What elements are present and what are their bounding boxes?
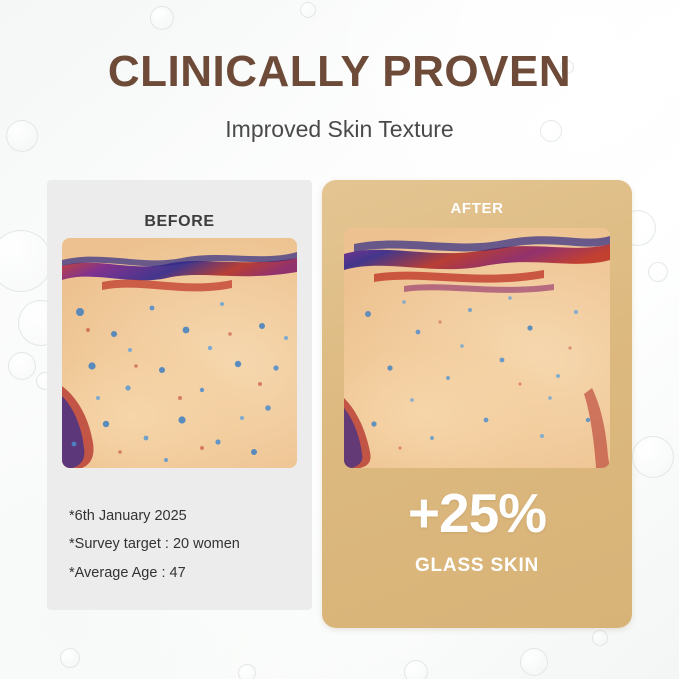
comparison-panels: BEFORE xyxy=(47,180,632,628)
study-detail-age: *Average Age : 47 xyxy=(69,559,299,587)
after-label: AFTER xyxy=(322,200,632,217)
study-detail-date: *6th January 2025 xyxy=(69,502,299,530)
skin-microscope-before-image xyxy=(62,238,297,468)
result-percentage: +25% xyxy=(322,485,632,543)
before-panel: BEFORE xyxy=(47,180,312,610)
after-skin-texture-graphic xyxy=(344,228,610,468)
result-caption: GLASS SKIN xyxy=(322,555,632,577)
result-block: +25% GLASS SKIN xyxy=(322,485,632,577)
before-label: BEFORE xyxy=(47,213,312,231)
promo-poster: CLINICALLY PROVEN Improved Skin Texture … xyxy=(0,0,679,679)
decorative-bubble-icon xyxy=(8,352,36,380)
study-details: *6th January 2025 *Survey target : 20 wo… xyxy=(69,502,299,587)
decorative-bubble-icon xyxy=(520,648,548,676)
page-title: CLINICALLY PROVEN xyxy=(0,50,679,94)
study-detail-target: *Survey target : 20 women xyxy=(69,530,299,558)
decorative-bubble-icon xyxy=(0,230,52,292)
before-skin-texture-graphic xyxy=(62,238,297,468)
skin-microscope-after-image xyxy=(344,228,610,468)
after-panel: AFTER xyxy=(322,180,632,628)
decorative-bubble-icon xyxy=(648,262,668,282)
decorative-bubble-icon xyxy=(238,664,256,679)
decorative-bubble-icon xyxy=(300,2,316,18)
page-subtitle: Improved Skin Texture xyxy=(0,116,679,143)
decorative-bubble-icon xyxy=(150,6,174,30)
decorative-bubble-icon xyxy=(404,660,428,679)
decorative-bubble-icon xyxy=(632,436,674,478)
decorative-bubble-icon xyxy=(60,648,80,668)
decorative-bubble-icon xyxy=(592,630,608,646)
